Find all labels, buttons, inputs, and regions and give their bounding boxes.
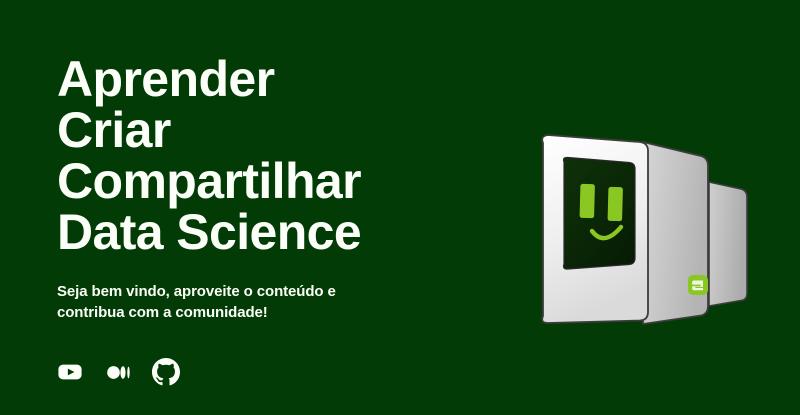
headline-line-2: Criar (57, 105, 477, 156)
retro-monitor-illustration (500, 110, 790, 340)
monitor-screen (564, 157, 636, 269)
hero-subtitle: Seja bem vindo, aproveite o conteúdo e c… (57, 281, 397, 323)
right-eye-icon (608, 187, 623, 221)
social-links (55, 357, 181, 387)
youtube-icon (57, 359, 83, 385)
subtitle-line-2: contribua com a comunidade! (57, 302, 397, 323)
github-icon (152, 358, 180, 386)
monitor-back-panel (709, 182, 747, 306)
social-link-youtube[interactable] (55, 357, 85, 387)
hero-banner: Aprender Criar Compartilhar Data Science… (0, 0, 800, 415)
headline-line-3: Compartilhar (57, 156, 477, 207)
hero-text-content: Aprender Criar Compartilhar Data Science… (57, 54, 477, 323)
headline-line-1: Aprender (57, 54, 477, 105)
medium-icon (105, 359, 132, 386)
headline-line-4: Data Science (57, 207, 477, 258)
subtitle-line-1: Seja bem vindo, aproveite o conteúdo e (57, 281, 397, 302)
social-link-github[interactable] (151, 357, 181, 387)
page-title: Aprender Criar Compartilhar Data Science (57, 54, 477, 258)
brand-logo-badge (688, 275, 708, 295)
left-eye-icon (580, 184, 595, 218)
monitor-side-panel (643, 142, 708, 324)
social-link-medium[interactable] (103, 357, 133, 387)
